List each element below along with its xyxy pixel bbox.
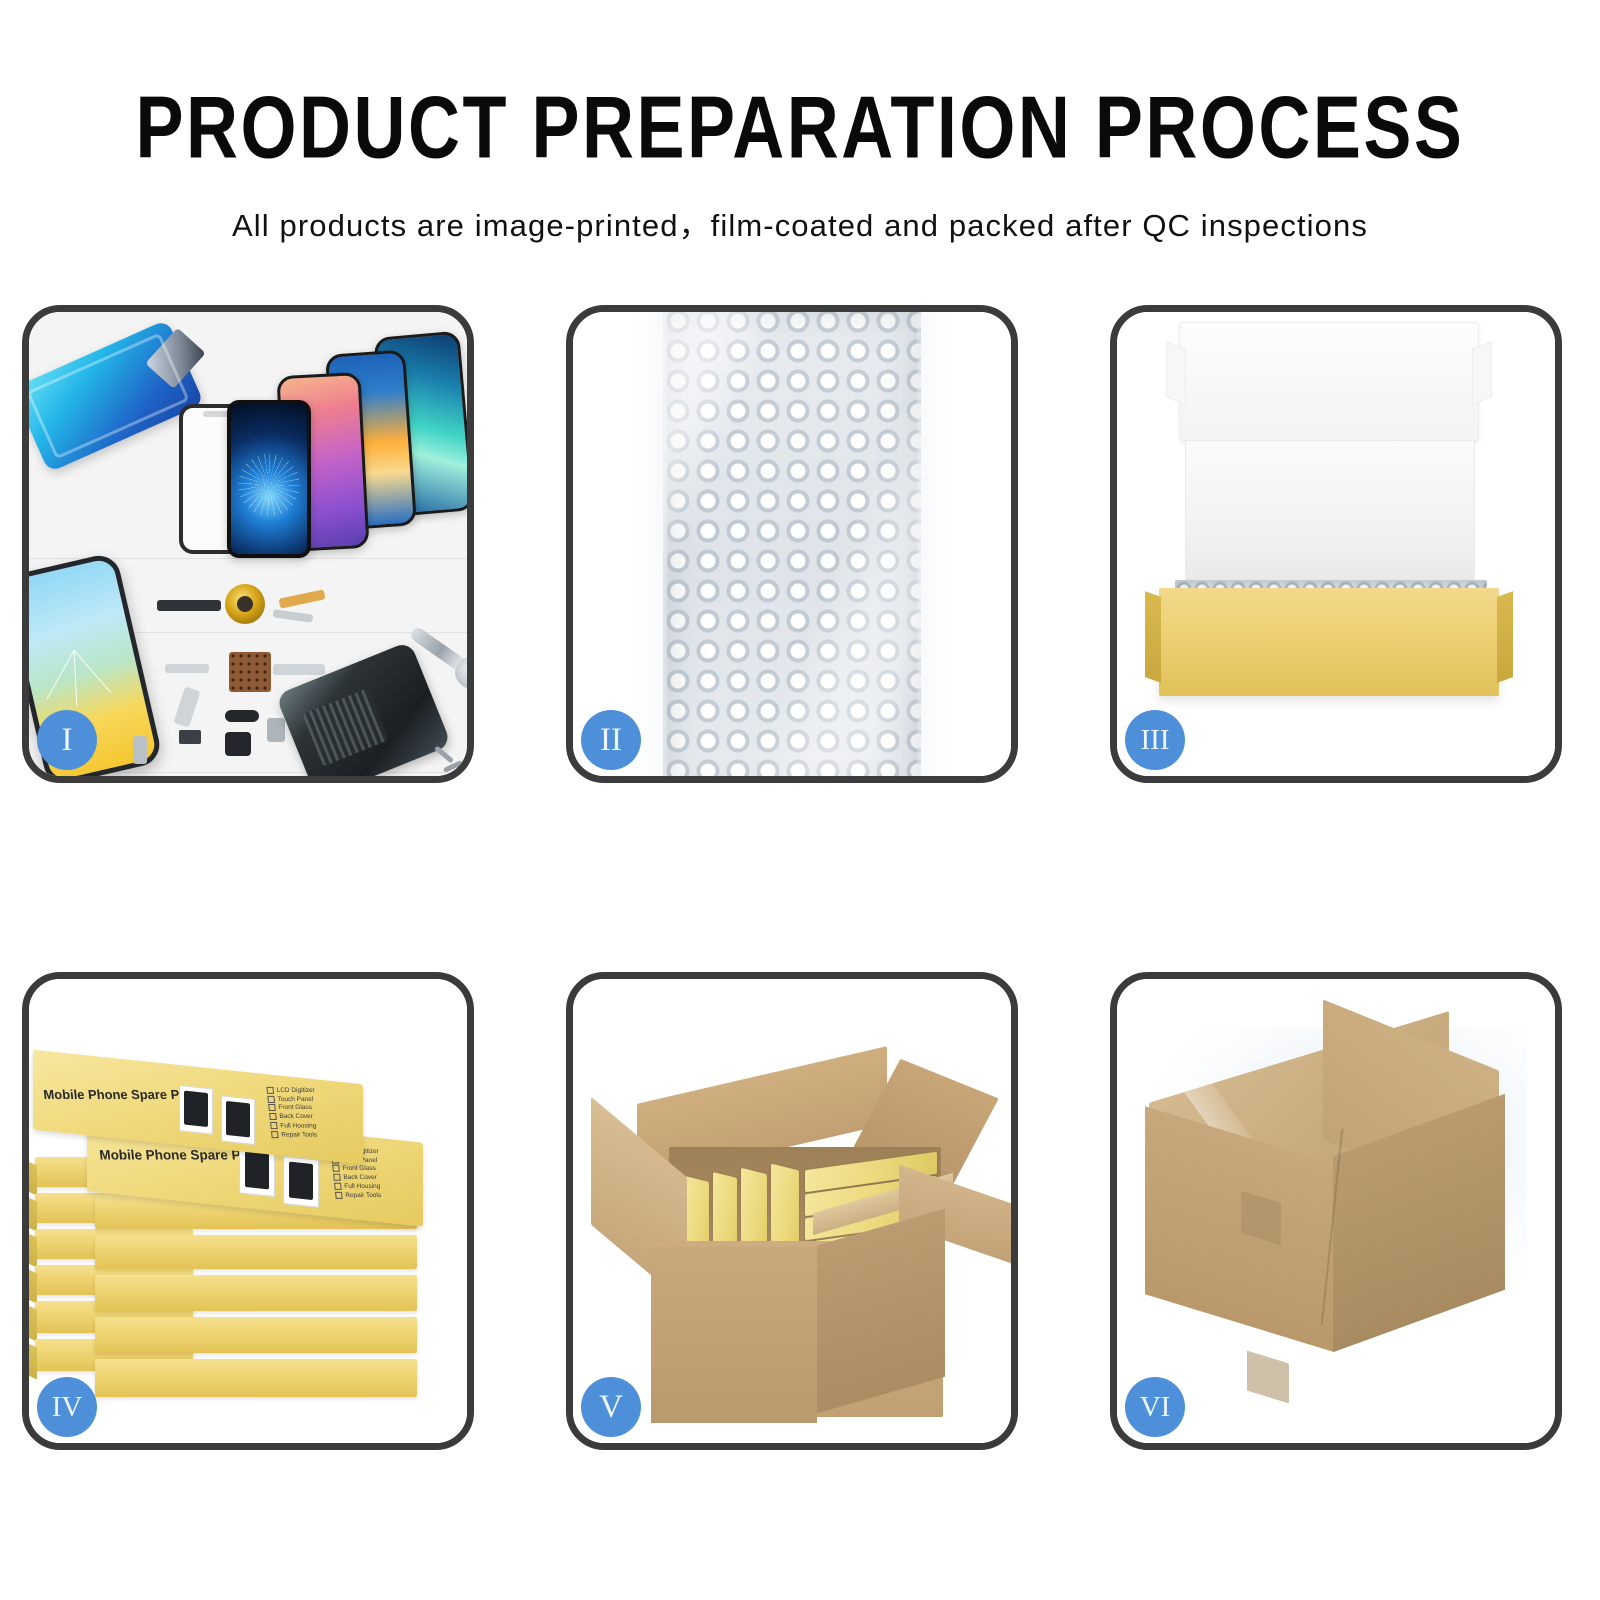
retail-box-stack: Mobile Phone Spare Parts LCD Digitizer T…	[29, 979, 467, 1443]
step-badge-3: III	[1125, 710, 1185, 770]
wireless-charging-coil	[225, 584, 265, 624]
step-badge-2: II	[581, 710, 641, 770]
mailer-box-tray	[1159, 588, 1499, 696]
step-card-2[interactable]: II	[566, 305, 1018, 783]
step-card-4[interactable]: Mobile Phone Spare Parts LCD Digitizer T…	[22, 972, 474, 1450]
step-image-4: Mobile Phone Spare Parts LCD Digitizer T…	[29, 979, 467, 1443]
step-card-5[interactable]: V	[566, 972, 1018, 1450]
mailer-box-back	[1185, 440, 1475, 592]
step-image-6	[1117, 979, 1555, 1443]
tape-tab-lower	[1247, 1351, 1289, 1404]
phone-screen-blue	[227, 400, 311, 558]
step-badge-5: V	[581, 1377, 641, 1437]
retail-box-product-photo-top-a	[179, 1085, 213, 1135]
step-badge-1: I	[37, 710, 97, 770]
retail-box-product-photo-top-b	[221, 1095, 255, 1145]
step-card-3[interactable]: III	[1110, 305, 1562, 783]
step-card-1[interactable]: I	[22, 305, 474, 783]
bubble-wrap-pouch	[663, 312, 921, 776]
step-image-1	[29, 312, 467, 776]
ic-chip-part	[229, 652, 271, 692]
retail-box-product-photo-front-b	[283, 1156, 319, 1208]
step-card-6[interactable]: VI	[1110, 972, 1562, 1450]
mailer-box-lid	[1179, 322, 1479, 442]
poster-root: PRODUCT PREPARATION PROCESS All products…	[0, 0, 1600, 1600]
step-badge-6: VI	[1125, 1377, 1185, 1437]
step-image-3	[1117, 312, 1555, 776]
step-badge-4: IV	[37, 1377, 97, 1437]
process-step-grid: I II	[0, 0, 1600, 1600]
step-image-5	[573, 979, 1011, 1443]
step-image-2	[573, 312, 1011, 776]
retail-box-checklist-top: LCD Digitizer Touch Panel Front Glass Ba…	[266, 1087, 320, 1140]
carton-front-face	[651, 1247, 817, 1423]
